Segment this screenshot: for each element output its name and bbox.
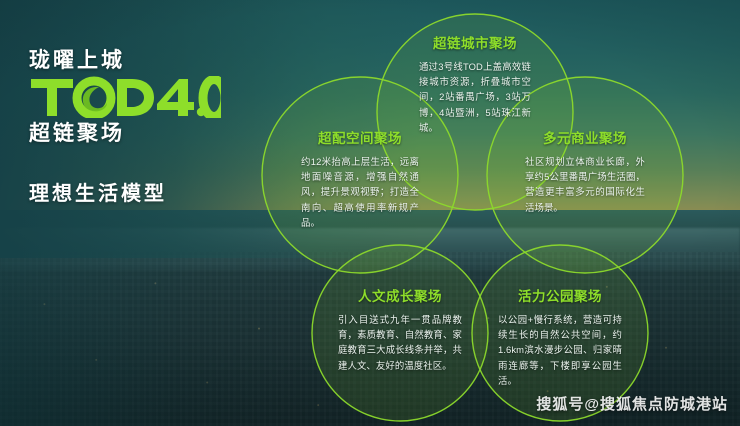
bubble-bottom-right[interactable]: 活力公园聚场以公园+慢行系统，营造可持续生长的自然公共空间，约1.6km滨水漫步… (498, 285, 622, 388)
bubble-body-left: 约12米抬高上层生活，远离地面噪音源，增强自然通风，提升景观视野；打造全南向、超… (301, 154, 419, 230)
bubble-left[interactable]: 超配空间聚场约12米抬高上层生活，远离地面噪音源，增强自然通风，提升景观视野；打… (301, 127, 419, 230)
bubble-title-top: 超链城市聚场 (419, 32, 531, 52)
bubble-title-left: 超配空间聚场 (301, 127, 419, 147)
brand-name: 珑曜上城 (29, 48, 269, 74)
bubble-title-bottom-right: 活力公园聚场 (498, 285, 622, 305)
bubble-body-bottom-right: 以公园+慢行系统，营造可持续生长的自然公共空间，约1.6km滨水漫步公园、归家晴… (498, 312, 622, 388)
bubble-top[interactable]: 超链城市聚场通过3号线TOD上盖高效链接城市资源，折叠城市空间，2站番禺广场，3… (419, 32, 531, 135)
poster-canvas: 珑曜上城 超链聚场 理想生活模型 超链城市聚场通过3号线TOD上盖高效链接城市资 (0, 0, 740, 426)
leaf-swirl-o-icon (83, 87, 107, 111)
tod-logo (29, 76, 269, 118)
watermark: 搜狐号@搜狐焦点防城港站 (536, 393, 728, 414)
tod-logo-svg (29, 76, 221, 118)
hero-subtitle: 超链聚场 (29, 121, 269, 147)
hero-tagline: 理想生活模型 (29, 182, 269, 207)
bubble-body-top: 通过3号线TOD上盖高效链接城市资源，折叠城市空间，2站番禺广场，3站万博，4站… (419, 59, 531, 135)
bubble-right[interactable]: 多元商业聚场社区规划立体商业长廊，外享约5公里番禺广场生活圈，营造更丰富多元的国… (525, 127, 645, 215)
hero-text-block: 珑曜上城 超链聚场 理想生活模型 (29, 48, 269, 207)
bubble-bottom-left[interactable]: 人文成长聚场引入目送式九年一贯品牌教育，素质教育、自然教育、家庭教育三大成长线条… (338, 285, 462, 373)
bubble-body-bottom-left: 引入目送式九年一贯品牌教育，素质教育、自然教育、家庭教育三大成长线条并举，共建人… (338, 312, 462, 373)
bubble-title-right: 多元商业聚场 (525, 127, 645, 147)
bubble-title-bottom-left: 人文成长聚场 (338, 285, 462, 305)
bubble-body-right: 社区规划立体商业长廊，外享约5公里番禺广场生活圈，营造更丰富多元的国际化生活场景… (525, 154, 645, 215)
